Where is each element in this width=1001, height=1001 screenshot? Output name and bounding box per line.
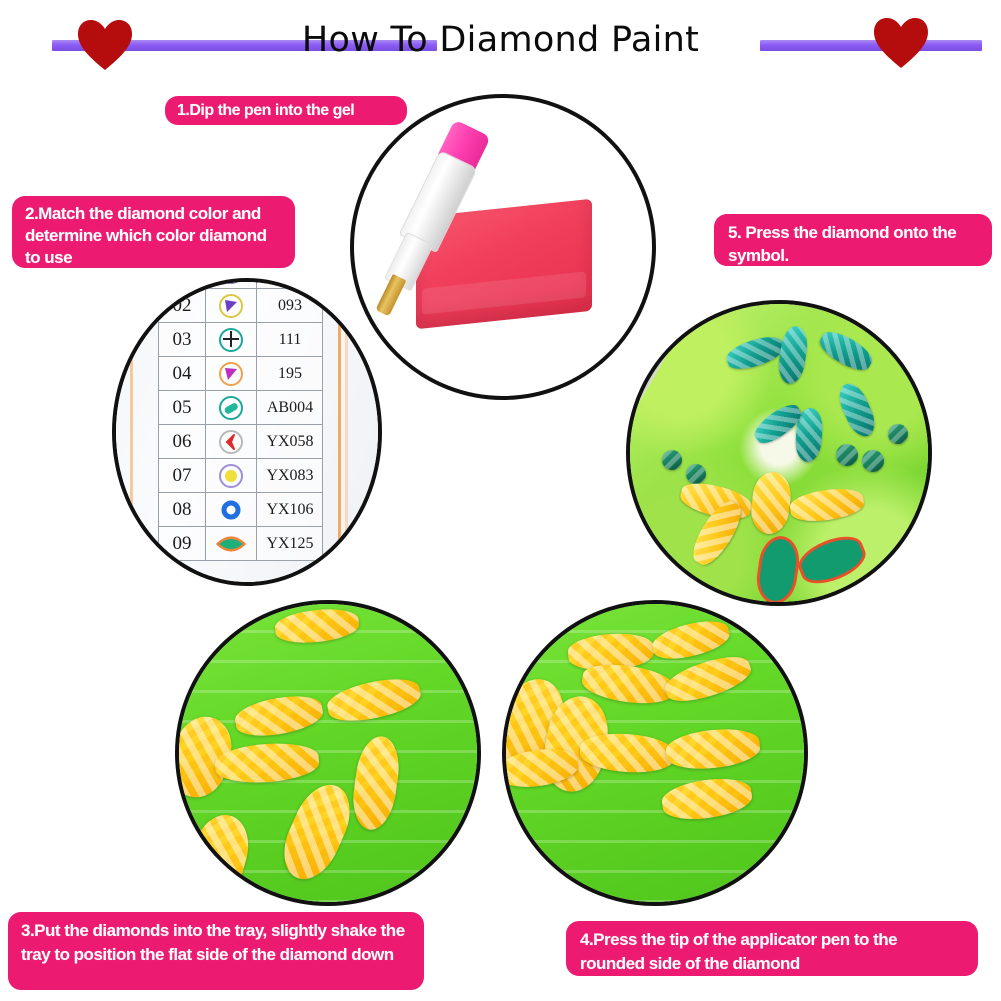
legend-row-color-code: YX083 <box>257 459 323 493</box>
legend-row: 05AB004 <box>159 391 323 425</box>
legend-row: 06YX058 <box>159 425 323 459</box>
legend-row: 04195 <box>159 357 323 391</box>
legend-row-number: 03 <box>159 323 206 357</box>
photo-diamonds-in-tray <box>175 600 481 906</box>
arrow-left-icon <box>206 425 257 459</box>
legend-sheet: 02802093031110419505AB00406YX05807YX0830… <box>112 278 382 586</box>
legend-row: 07YX083 <box>159 459 323 493</box>
pen-tip <box>375 274 406 317</box>
legend-row-color-code: 111 <box>257 323 323 357</box>
legend-row-number: 06 <box>159 425 206 459</box>
slash-oval-icon <box>206 391 257 425</box>
legend-row: 09YX125 <box>159 527 323 561</box>
canvas-gem <box>862 450 884 472</box>
plus-icon <box>206 323 257 357</box>
step-5-label: 5. Press the diamond onto the symbol. <box>714 214 992 266</box>
legend-row-number: 02 <box>159 289 206 323</box>
triangle-filled-icon <box>206 357 257 391</box>
canvas-gem <box>836 444 858 466</box>
step-4-label: 4.Press the tip of the applicator pen to… <box>566 921 978 976</box>
step-1-label: 1.Dip the pen into the gel <box>165 96 407 125</box>
canvas-gem <box>686 464 706 484</box>
leaf-icon <box>206 527 257 561</box>
double-dot-icon <box>206 278 257 289</box>
page-title: How To Diamond Paint <box>0 20 1001 60</box>
infographic-canvas: How To Diamond Paint 0280209303111041950… <box>0 0 1001 1001</box>
legend-row-number: 08 <box>159 493 206 527</box>
legend-row-color-code: 195 <box>257 357 323 391</box>
legend-row-color-code: 093 <box>257 289 323 323</box>
legend-row: 08YX106 <box>159 493 323 527</box>
step-2-label: 2.Match the diamond color and determine … <box>12 196 295 268</box>
legend-row-number: 05 <box>159 391 206 425</box>
legend-row: 03111 <box>159 323 323 357</box>
legend-row-color-code: YX106 <box>257 493 323 527</box>
triangle-icon <box>206 289 257 323</box>
legend-row-color-code: 028 <box>257 278 323 289</box>
legend-table: 02802093031110419505AB00406YX05807YX0830… <box>158 278 323 561</box>
open-ring-icon <box>206 493 257 527</box>
step-3-label: 3.Put the diamonds into the tray, slight… <box>8 912 424 990</box>
legend-row-number: 04 <box>159 357 206 391</box>
photo-press-diamond-onto-symbol <box>626 300 932 606</box>
legend-row-number: 09 <box>159 527 206 561</box>
legend-row: 028 <box>159 278 323 289</box>
photo-pen-presses-diamond <box>502 600 808 906</box>
photo-pen-into-gel <box>350 94 656 400</box>
legend-row-color-code: YX125 <box>257 527 323 561</box>
sheet-edge-line <box>130 278 133 586</box>
canvas-gem <box>662 450 682 470</box>
legend-row-color-code: YX058 <box>257 425 323 459</box>
canvas-gem <box>888 424 908 444</box>
sheet-edge-line <box>338 278 341 586</box>
legend-row: 02093 <box>159 289 323 323</box>
dot-in-ring-icon <box>206 459 257 493</box>
legend-row-color-code: AB004 <box>257 391 323 425</box>
photo-color-legend-chart: 02802093031110419505AB00406YX05807YX0830… <box>112 278 382 586</box>
sheet-edge-line <box>345 278 348 586</box>
legend-row-number <box>159 278 206 289</box>
legend-row-number: 07 <box>159 459 206 493</box>
